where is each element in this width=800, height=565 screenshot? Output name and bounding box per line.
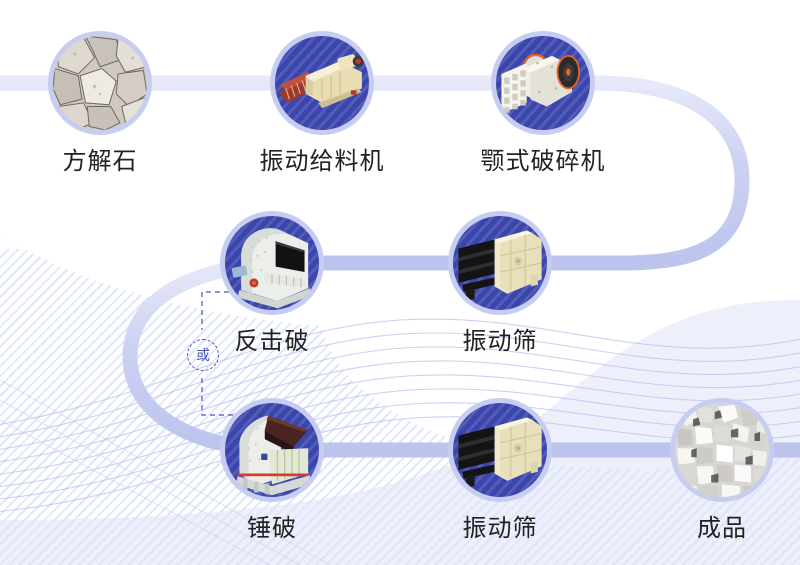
node-label: 方解石 — [25, 149, 175, 173]
crushed-gravel-photo-icon — [675, 403, 769, 497]
node-vibrating-screen-1[interactable]: 振动筛 — [425, 211, 575, 353]
node-vibrating-feeder[interactable]: 振动给料机 — [247, 31, 397, 173]
vibrating-feeder-circle — [270, 31, 374, 135]
node-hammer-crusher[interactable]: 锤破 — [197, 398, 347, 540]
flow-diagram: 或 — [0, 0, 800, 565]
vibrating-screen-machine-icon — [453, 403, 547, 497]
node-label: 振动给料机 — [247, 149, 397, 173]
node-finished-product[interactable]: 成品 — [647, 398, 797, 540]
node-label: 反击破 — [197, 329, 347, 353]
node-label: 成品 — [647, 516, 797, 540]
jaw-crusher-circle — [491, 31, 595, 135]
hammer-crusher-circle — [220, 398, 324, 502]
vibrating-feeder-machine-icon — [275, 36, 369, 130]
vibrating-screen-2-circle — [448, 398, 552, 502]
impact-crusher-circle — [220, 211, 324, 315]
node-jaw-crusher[interactable]: 颚式破碎机 — [468, 31, 618, 173]
vibrating-screen-1-circle — [448, 211, 552, 315]
rock-pile-photo-icon — [53, 36, 147, 130]
jaw-crusher-machine-icon — [496, 36, 590, 130]
node-vibrating-screen-2[interactable]: 振动筛 — [425, 398, 575, 540]
node-label: 锤破 — [197, 516, 347, 540]
node-label: 振动筛 — [425, 329, 575, 353]
calcite-circle — [48, 31, 152, 135]
hammer-crusher-machine-icon — [225, 403, 319, 497]
impact-crusher-machine-icon — [225, 216, 319, 310]
finished-product-circle — [670, 398, 774, 502]
node-label: 颚式破碎机 — [468, 149, 618, 173]
node-label: 振动筛 — [425, 516, 575, 540]
vibrating-screen-machine-icon — [453, 216, 547, 310]
node-calcite[interactable]: 方解石 — [25, 31, 175, 173]
node-impact-crusher[interactable]: 反击破 — [197, 211, 347, 353]
